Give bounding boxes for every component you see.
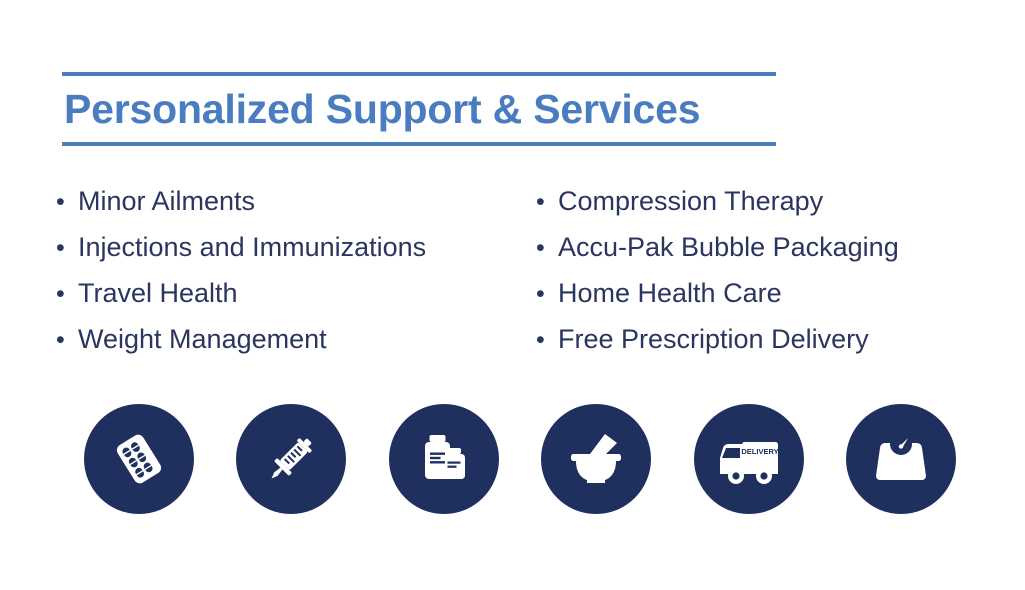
bullet-icon: • bbox=[56, 225, 78, 271]
bullet-icon: • bbox=[56, 271, 78, 317]
bullet-icon: • bbox=[536, 179, 558, 225]
icon-badge-pill-bottles bbox=[389, 404, 499, 514]
list-item-label: Compression Therapy bbox=[558, 178, 823, 224]
pill-bottles-icon bbox=[412, 427, 476, 491]
list-item: • Compression Therapy bbox=[536, 178, 1008, 224]
blister-pack-icon bbox=[107, 427, 171, 491]
list-item-label: Minor Ailments bbox=[78, 178, 255, 224]
icon-badge-syringe bbox=[236, 404, 346, 514]
title-block: Personalized Support & Services bbox=[62, 72, 776, 146]
list-item: • Travel Health bbox=[56, 270, 536, 316]
services-column-right: • Compression Therapy • Accu-Pak Bubble … bbox=[536, 178, 1008, 362]
list-item-label: Accu-Pak Bubble Packaging bbox=[558, 224, 899, 270]
list-item: • Minor Ailments bbox=[56, 178, 536, 224]
weight-scale-icon bbox=[869, 427, 933, 491]
bullet-icon: • bbox=[536, 271, 558, 317]
bullet-icon: • bbox=[536, 317, 558, 363]
list-item: • Free Prescription Delivery bbox=[536, 316, 1008, 362]
list-item-label: Home Health Care bbox=[558, 270, 782, 316]
list-item: • Weight Management bbox=[56, 316, 536, 362]
delivery-van-text: DELIVERY bbox=[741, 447, 778, 456]
bullet-icon: • bbox=[536, 225, 558, 271]
title-rule-bottom bbox=[62, 142, 776, 146]
list-item-label: Travel Health bbox=[78, 270, 238, 316]
service-icon-row: DELIVERY bbox=[84, 404, 956, 514]
slide-canvas: Personalized Support & Services • Minor … bbox=[0, 0, 1025, 590]
icon-badge-mortar-and-pestle bbox=[541, 404, 651, 514]
delivery-van-icon: DELIVERY bbox=[714, 424, 784, 494]
syringe-icon bbox=[259, 427, 323, 491]
icon-badge-blister-pack bbox=[84, 404, 194, 514]
services-column-left: • Minor Ailments • Injections and Immuni… bbox=[56, 178, 536, 362]
bullet-icon: • bbox=[56, 317, 78, 363]
icon-badge-delivery-van: DELIVERY bbox=[694, 404, 804, 514]
list-item: • Home Health Care bbox=[536, 270, 1008, 316]
list-item-label: Weight Management bbox=[78, 316, 327, 362]
list-item: • Accu-Pak Bubble Packaging bbox=[536, 224, 1008, 270]
list-item-label: Free Prescription Delivery bbox=[558, 316, 869, 362]
services-lists: • Minor Ailments • Injections and Immuni… bbox=[56, 178, 1008, 362]
mortar-and-pestle-icon bbox=[563, 426, 629, 492]
list-item: • Injections and Immunizations bbox=[56, 224, 536, 270]
icon-badge-weight-scale bbox=[846, 404, 956, 514]
list-item-label: Injections and Immunizations bbox=[78, 224, 426, 270]
bullet-icon: • bbox=[56, 179, 78, 225]
page-title: Personalized Support & Services bbox=[62, 76, 776, 142]
